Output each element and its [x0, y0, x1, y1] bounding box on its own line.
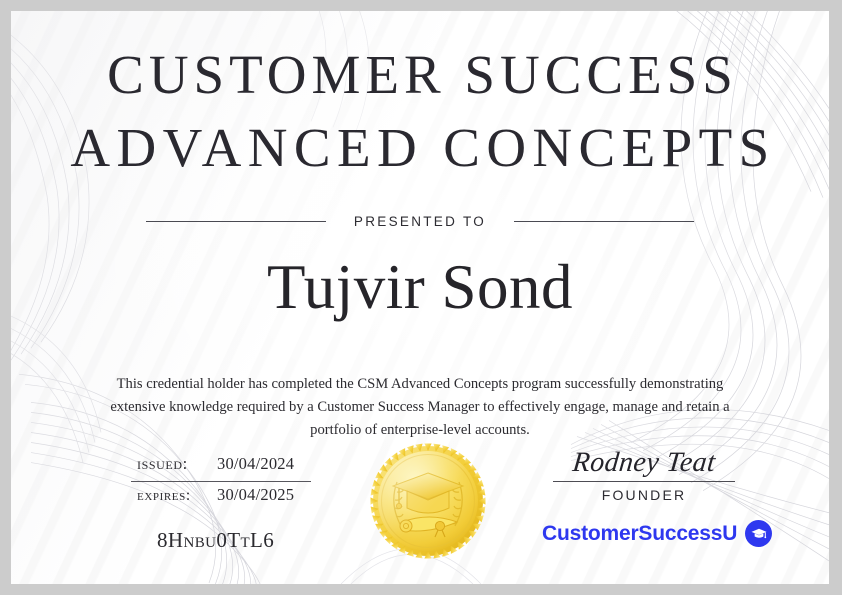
brand-badge [745, 520, 772, 547]
credential-dates: Issued: 30/04/2024 Expires: 30/04/2025 8… [129, 454, 334, 553]
issued-label: Issued: [129, 454, 217, 474]
dates-divider [131, 481, 311, 482]
divider-rule-right [514, 221, 694, 222]
seal-highlight [378, 451, 478, 551]
credential-description: This credential holder has completed the… [100, 373, 740, 441]
divider-rule-left [146, 221, 326, 222]
signature-block: Rodney Teat FOUNDER [544, 448, 744, 503]
expires-value: 30/04/2025 [217, 485, 294, 505]
issued-value: 30/04/2024 [217, 454, 294, 474]
presented-to-label: PRESENTED TO [354, 214, 486, 229]
certificate-page: CUSTOMER SUCCESS ADVANCED CONCEPTS PRESE… [11, 11, 829, 584]
credential-code: 8Hnbu0TtL6 [129, 528, 334, 553]
graduation-cap-icon [750, 525, 768, 543]
brand-logo: CustomerSuccessU [542, 520, 772, 547]
signature-name: Rodney Teat [542, 448, 745, 479]
signature-rule [553, 481, 735, 482]
certificate-title: CUSTOMER SUCCESS ADVANCED CONCEPTS [11, 47, 829, 175]
brand-name: CustomerSuccessU [542, 522, 737, 546]
gold-award-seal-icon [369, 442, 487, 560]
title-line-1: CUSTOMER SUCCESS [11, 47, 829, 102]
certificate-content: CUSTOMER SUCCESS ADVANCED CONCEPTS PRESE… [11, 11, 829, 584]
signature-role: FOUNDER [544, 487, 744, 503]
recipient-name: Tujvir Sond [11, 251, 829, 323]
title-line-2: ADVANCED CONCEPTS [11, 120, 829, 175]
expires-label: Expires: [129, 487, 217, 505]
presented-to-row: PRESENTED TO [11, 214, 829, 229]
expires-row: Expires: 30/04/2025 [129, 485, 334, 511]
certificate: CUSTOMER SUCCESS ADVANCED CONCEPTS PRESE… [0, 0, 842, 595]
issued-row: Issued: 30/04/2024 [129, 454, 334, 480]
certificate-footer: Issued: 30/04/2024 Expires: 30/04/2025 8… [11, 434, 829, 584]
